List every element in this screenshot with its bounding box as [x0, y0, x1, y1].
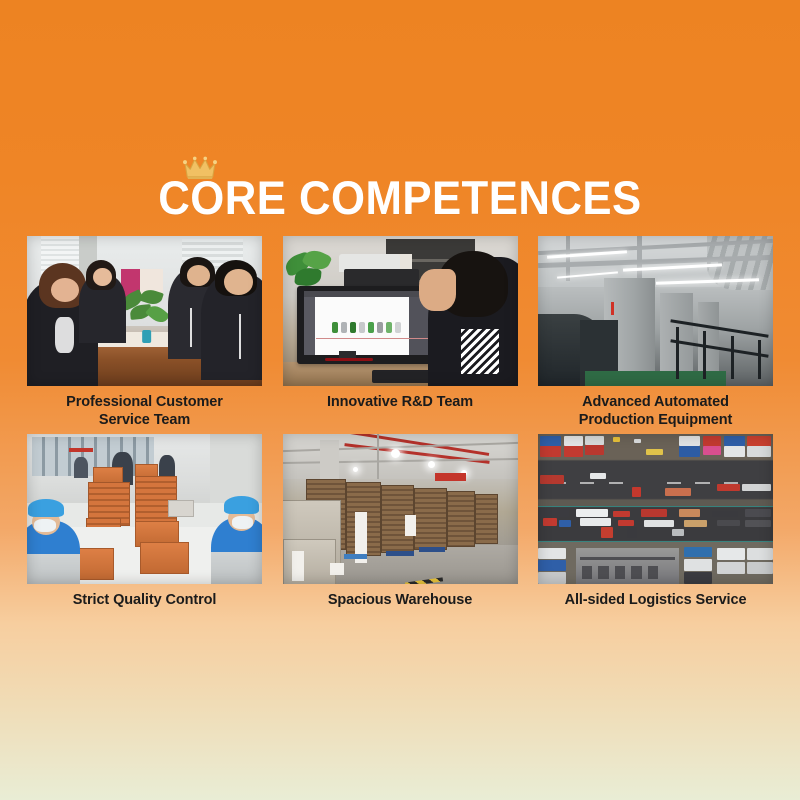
card-all-sided-logistics-service[interactable]: All-sided Logistics Service: [538, 434, 773, 609]
caption-line-1: Spacious Warehouse: [328, 592, 472, 608]
caption-line-1: Professional Customer: [66, 394, 223, 410]
photo-innovative-rd-team: [283, 236, 518, 386]
card-strict-quality-control[interactable]: Strict Quality Control: [27, 434, 262, 609]
card-innovative-rd-team[interactable]: Innovative R&D Team: [283, 236, 518, 429]
caption-all-sided-logistics-service: All-sided Logistics Service: [538, 591, 773, 609]
competence-grid: Professional Customer Service Team: [27, 236, 773, 609]
caption-line-1: All-sided Logistics Service: [565, 592, 747, 608]
competence-row-1: Professional Customer Service Team: [27, 236, 773, 429]
caption-innovative-rd-team: Innovative R&D Team: [283, 393, 518, 411]
card-spacious-warehouse[interactable]: Spacious Warehouse: [283, 434, 518, 609]
core-competences-banner: CORE COMPETENCES: [0, 0, 800, 800]
photo-all-sided-logistics-service: [538, 434, 773, 584]
caption-line-1: Innovative R&D Team: [327, 394, 473, 410]
caption-line-1: Strict Quality Control: [73, 592, 217, 608]
competence-row-2: Strict Quality Control: [27, 434, 773, 609]
photo-spacious-warehouse: [283, 434, 518, 584]
caption-line-1: Advanced Automated: [582, 394, 729, 410]
photo-professional-customer-service-team: [27, 236, 262, 386]
page-title: CORE COMPETENCES: [158, 169, 641, 227]
caption-advanced-automated-production-equipment: Advanced Automated Production Equipment: [538, 393, 773, 429]
caption-line-2: Service Team: [27, 411, 262, 429]
card-professional-customer-service-team[interactable]: Professional Customer Service Team: [27, 236, 262, 429]
card-advanced-automated-production-equipment[interactable]: Advanced Automated Production Equipment: [538, 236, 773, 429]
caption-professional-customer-service-team: Professional Customer Service Team: [27, 393, 262, 429]
photo-advanced-automated-production-equipment: [538, 236, 773, 386]
caption-strict-quality-control: Strict Quality Control: [27, 591, 262, 609]
caption-line-2: Production Equipment: [538, 411, 773, 429]
photo-strict-quality-control: [27, 434, 262, 584]
caption-spacious-warehouse: Spacious Warehouse: [283, 591, 518, 609]
